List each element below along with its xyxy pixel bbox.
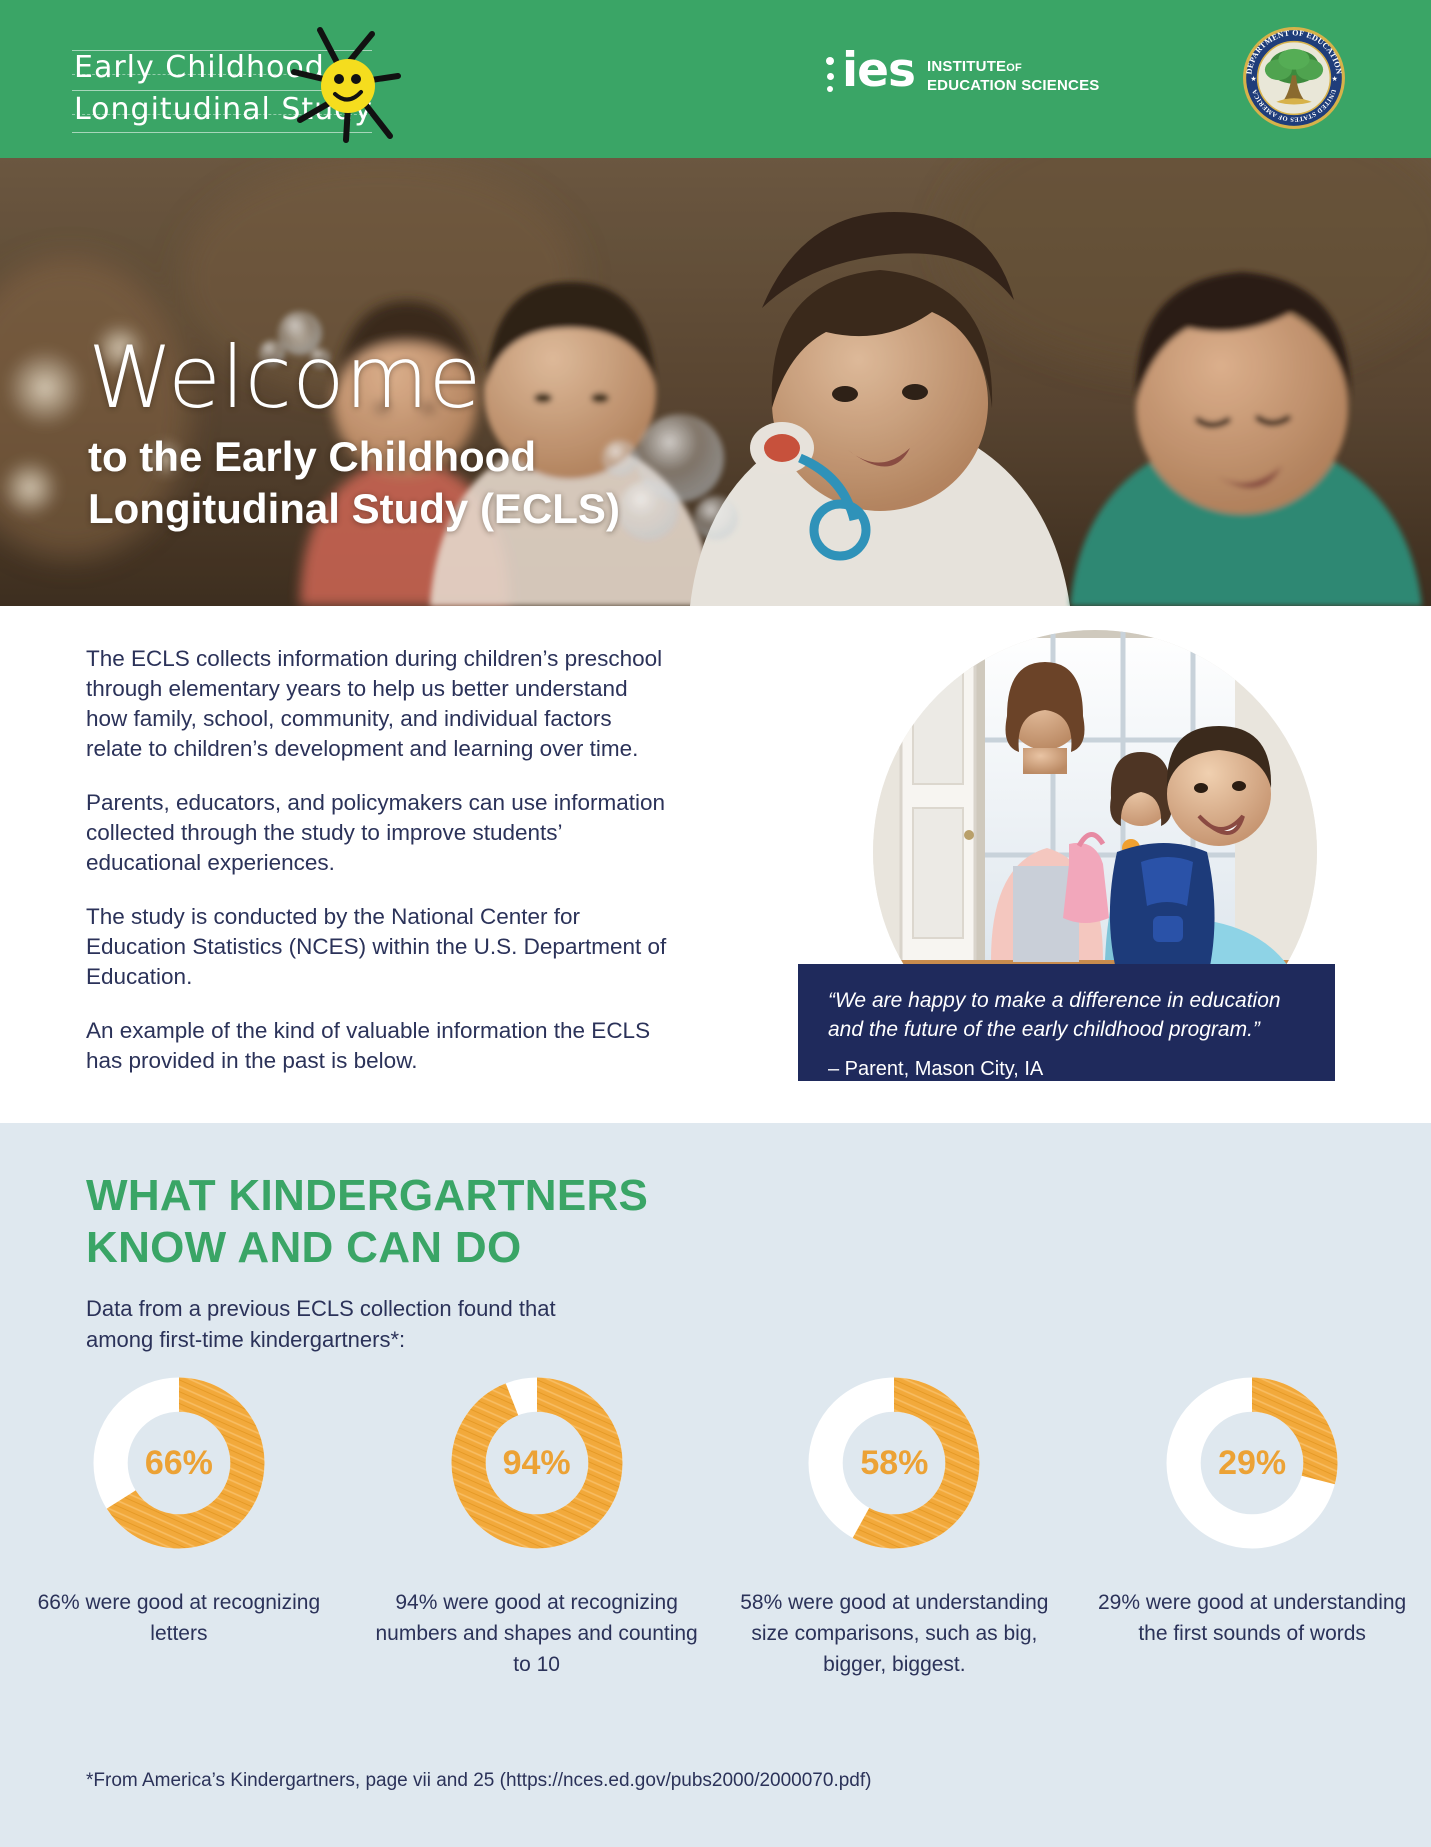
donut-chart: 94%: [447, 1373, 627, 1553]
parent-quote-box: “We are happy to make a difference in ed…: [798, 964, 1335, 1081]
stats-heading-line1: WHAT KINDERGARTNERS: [86, 1170, 648, 1222]
quote-attribution: – Parent, Mason City, IA: [828, 1056, 1305, 1082]
donut-caption: 66% were good at recognizing letters: [14, 1587, 344, 1649]
stats-section: WHAT KINDERGARTNERS KNOW AND CAN DO Data…: [0, 1123, 1431, 1847]
quote-text: “We are happy to make a difference in ed…: [828, 986, 1305, 1044]
donut-percent-label: 58%: [804, 1373, 984, 1553]
infographic-page: Early Childhood Longitudinal Study: [0, 0, 1431, 1847]
donut-caption: 29% were good at understanding the first…: [1087, 1587, 1417, 1649]
intro-copy: The ECLS collects information during chi…: [86, 644, 668, 1076]
donut-chart: 66%: [89, 1373, 269, 1553]
ies-wordmark: ies: [842, 49, 915, 93]
donut-chart-row: 66% 66% were good at recognizing letters: [0, 1373, 1431, 1680]
stats-footnote: *From America’s Kindergartners, page vii…: [86, 1768, 871, 1794]
stats-lead-text: Data from a previous ECLS collection fou…: [86, 1293, 556, 1355]
stats-lead-line1: Data from a previous ECLS collection fou…: [86, 1293, 556, 1324]
intro-paragraph-1: The ECLS collects information during chi…: [86, 644, 668, 764]
intro-paragraph-2: Parents, educators, and policymakers can…: [86, 788, 668, 878]
hero-banner: Welcome to the Early Childhood Longitudi…: [0, 158, 1431, 606]
donut-percent-label: 66%: [89, 1373, 269, 1553]
hero-subtitle-line2: Longitudinal Study (ECLS): [88, 483, 620, 535]
hero-welcome-heading: Welcome: [88, 333, 620, 423]
stats-heading: WHAT KINDERGARTNERS KNOW AND CAN DO: [86, 1170, 648, 1274]
svg-text:★: ★: [1331, 75, 1337, 83]
stats-lead-line2: among first-time kindergartners*:: [86, 1324, 556, 1355]
intro-paragraph-3: The study is conducted by the National C…: [86, 902, 668, 992]
donut-cell: 66% 66% were good at recognizing letters: [0, 1373, 358, 1680]
department-of-education-seal-icon: DEPARTMENT OF EDUCATION UNITED STATES OF…: [1242, 26, 1346, 130]
svg-text:★: ★: [1250, 75, 1256, 83]
ies-subtitle: INSTITUTEOF EDUCATION SCIENCES: [927, 48, 1100, 94]
page-header: Early Childhood Longitudinal Study: [0, 0, 1431, 158]
ies-subtitle-line1: INSTITUTE: [927, 58, 1006, 75]
ies-logo: ies INSTITUTEOF EDUCATION SCIENCES: [826, 48, 1099, 94]
donut-cell: 58% 58% were good at understanding size …: [716, 1373, 1074, 1680]
donut-percent-label: 29%: [1162, 1373, 1342, 1553]
donut-caption: 58% were good at understanding size comp…: [729, 1587, 1059, 1680]
ies-subtitle-line2: EDUCATION SCIENCES: [927, 77, 1100, 94]
donut-cell: 29% 29% were good at understanding the f…: [1073, 1373, 1431, 1680]
ies-subtitle-of: OF: [1006, 62, 1022, 74]
hero-text-block: Welcome to the Early Childhood Longitudi…: [88, 333, 620, 535]
ecls-logo: Early Childhood Longitudinal Study: [72, 28, 402, 138]
donut-cell: 94% 94% were good at recognizing numbers…: [358, 1373, 716, 1680]
donut-chart: 29%: [1162, 1373, 1342, 1553]
hero-subtitle-line1: to the Early Childhood: [88, 431, 620, 483]
donut-percent-label: 94%: [447, 1373, 627, 1553]
stats-heading-line2: KNOW AND CAN DO: [86, 1222, 648, 1274]
donut-caption: 94% were good at recognizing numbers and…: [372, 1587, 702, 1680]
intro-paragraph-4: An example of the kind of valuable infor…: [86, 1016, 668, 1076]
donut-chart: 58%: [804, 1373, 984, 1553]
sun-smiley-icon: [280, 24, 410, 144]
hero-subtitle: to the Early Childhood Longitudinal Stud…: [88, 431, 620, 535]
ies-dots-icon: [826, 49, 840, 93]
